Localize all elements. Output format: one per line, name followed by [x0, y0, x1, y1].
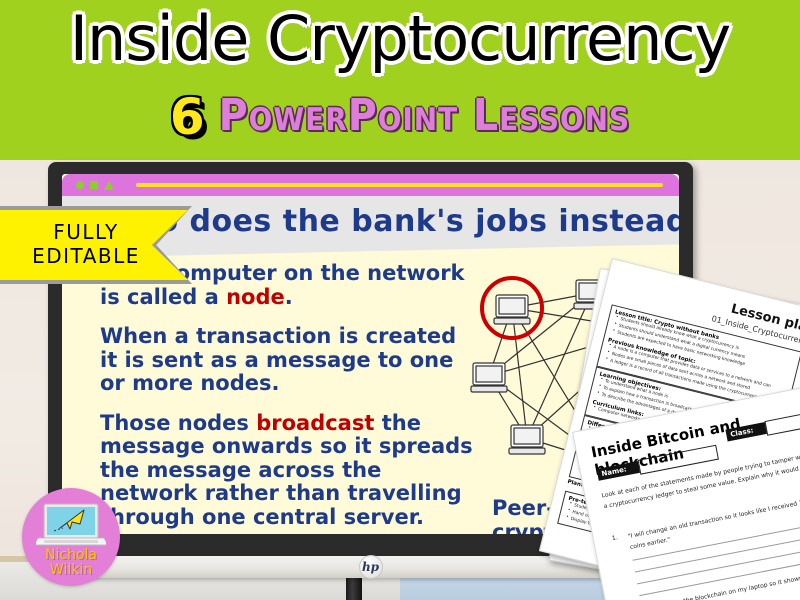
badge-line-2: EDITABLE — [32, 245, 140, 269]
network-node — [494, 295, 530, 324]
brand-name-line-1: Nichola — [22, 548, 120, 563]
window-circle-icon[interactable] — [76, 181, 84, 189]
window-title-bar[interactable] — [62, 174, 679, 196]
slide-text-run: . — [285, 285, 293, 309]
window-controls[interactable] — [76, 181, 114, 190]
page-subtitle: 6PowerPoint Lessons — [0, 92, 800, 142]
worksheet-question-text: "I will change the blockchain on my lapt… — [641, 568, 800, 600]
window-square-icon[interactable] — [90, 181, 98, 189]
hp-logo: hp — [359, 555, 383, 579]
slide-keyword: broadcast — [256, 411, 374, 435]
window-accent-line — [136, 183, 663, 187]
slide-paragraph: When a transaction is created it is sent… — [100, 325, 480, 396]
badge-line-1: FULLY — [53, 221, 119, 245]
slide-text-run: When a transaction is created it is sent… — [100, 324, 456, 395]
brand-logo-text: Nichola Wilkin — [22, 548, 120, 577]
slide-body: Each computer on the network is called a… — [100, 262, 480, 534]
network-node — [509, 425, 545, 454]
slide-paragraph: Those nodes broadcast the message onward… — [100, 412, 480, 530]
page-title: Inside Cryptocurrency — [0, 8, 800, 70]
brand-name-line-2: Wilkin — [22, 563, 120, 578]
page-header: Inside Cryptocurrency 6PowerPoint Lesson… — [0, 0, 800, 160]
laptop-rocket-icon — [36, 502, 106, 548]
window-triangle-icon[interactable] — [104, 181, 114, 190]
lesson-count: 6 — [170, 88, 205, 146]
brand-logo: Nichola Wilkin — [22, 488, 120, 586]
worksheet-question-number: 1. — [611, 534, 618, 542]
slide-text-run: Those nodes — [100, 411, 256, 435]
network-node — [471, 363, 507, 392]
lesson-label: PowerPoint Lessons — [219, 90, 630, 141]
slide-keyword: node — [226, 285, 285, 309]
